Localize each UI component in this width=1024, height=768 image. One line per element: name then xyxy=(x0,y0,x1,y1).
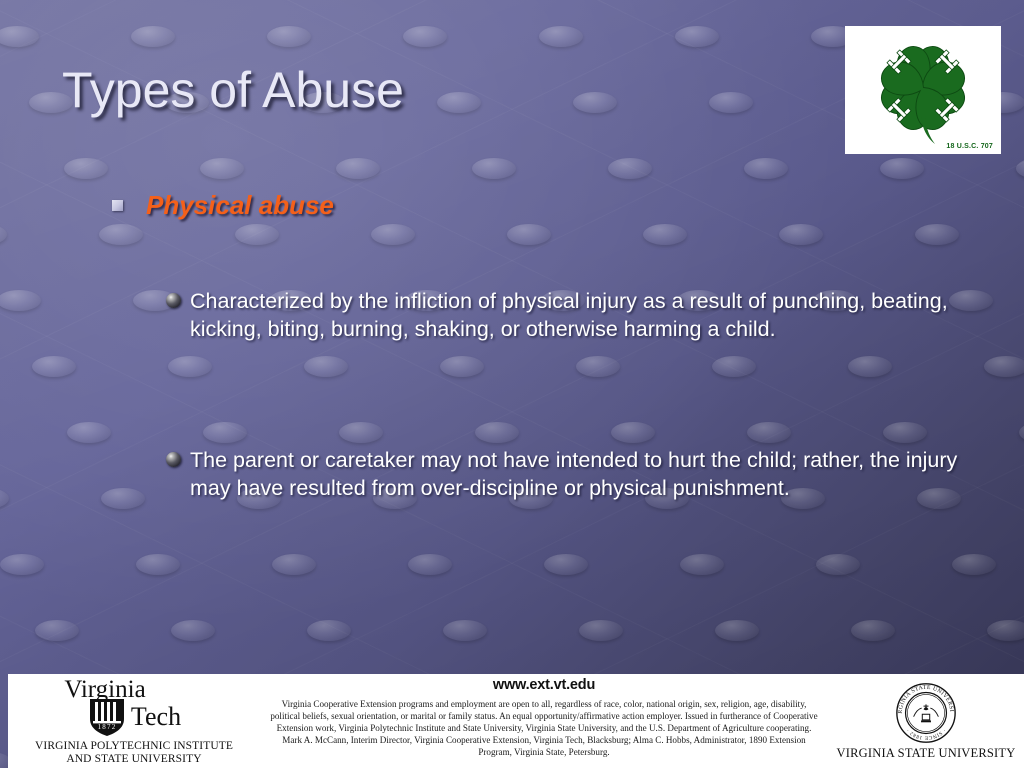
level2-bullet-item: Characterized by the infliction of physi… xyxy=(166,287,976,344)
vt-shield-row: 1872 Tech xyxy=(87,697,181,737)
background-node xyxy=(440,356,484,377)
background-node xyxy=(507,224,551,245)
background-node xyxy=(304,356,348,377)
background-node xyxy=(339,422,383,443)
slide-canvas: Types of Abuse Physical abuse Characteri… xyxy=(0,0,1024,768)
vt-full-name: VIRGINIA POLYTECHNIC INSTITUTE AND STATE… xyxy=(35,740,233,766)
vt-word-tech: Tech xyxy=(131,704,181,730)
level2-paragraph-text: The parent or caretaker may not have int… xyxy=(190,446,976,503)
svg-text:1872: 1872 xyxy=(98,723,117,731)
background-node xyxy=(168,356,212,377)
background-node xyxy=(67,422,111,443)
background-node xyxy=(35,620,79,641)
vt-name-line2: AND STATE UNIVERSITY xyxy=(35,753,233,766)
background-node xyxy=(136,554,180,575)
background-node xyxy=(472,158,516,179)
sphere-bullet-icon xyxy=(166,452,181,467)
background-node xyxy=(848,356,892,377)
background-node xyxy=(779,224,823,245)
background-node xyxy=(307,620,351,641)
background-node xyxy=(0,26,39,47)
square-bullet-icon xyxy=(112,200,123,211)
virginia-state-university-logo: VIRGINIA STATE UNIVERSITY · SINCE 1882 ·… xyxy=(828,674,1024,768)
background-node xyxy=(744,158,788,179)
background-node xyxy=(1016,158,1024,179)
extension-url[interactable]: www.ext.vt.edu xyxy=(493,677,595,693)
slide-title: Types of Abuse xyxy=(62,63,404,117)
background-node xyxy=(99,224,143,245)
background-node xyxy=(1019,422,1024,443)
four-h-clover-logo: 18 U.S.C. 707 xyxy=(845,26,1001,154)
background-node xyxy=(171,620,215,641)
clover-legal-code: 18 U.S.C. 707 xyxy=(946,143,993,150)
background-node xyxy=(611,422,655,443)
sphere-bullet-icon xyxy=(166,293,181,308)
background-node xyxy=(200,158,244,179)
background-node xyxy=(680,554,724,575)
background-node xyxy=(984,356,1024,377)
background-node xyxy=(203,422,247,443)
background-node xyxy=(608,158,652,179)
background-node xyxy=(131,26,175,47)
background-node xyxy=(443,620,487,641)
background-node xyxy=(715,620,759,641)
disclaimer-text: Virginia Cooperative Extension programs … xyxy=(266,698,822,758)
level1-bullet-label: Physical abuse xyxy=(146,190,334,221)
background-node xyxy=(408,554,452,575)
background-node xyxy=(0,224,7,245)
slide-footer: Virginia 1872 Tech VIRGINIA POLYTECHNIC xyxy=(8,674,1024,768)
background-node xyxy=(475,422,519,443)
virginia-tech-logo: Virginia 1872 Tech VIRGINIA POLYTECHNIC xyxy=(8,674,260,768)
background-node xyxy=(579,620,623,641)
background-node xyxy=(987,620,1024,641)
background-node xyxy=(272,554,316,575)
background-node xyxy=(0,554,44,575)
background-node xyxy=(675,26,719,47)
background-node xyxy=(539,26,583,47)
background-node xyxy=(747,422,791,443)
background-node xyxy=(712,356,756,377)
four-h-clover-icon xyxy=(845,26,1001,154)
background-node xyxy=(816,554,860,575)
background-node xyxy=(371,224,415,245)
background-node xyxy=(573,92,617,113)
background-node xyxy=(915,224,959,245)
background-node xyxy=(576,356,620,377)
background-node xyxy=(880,158,924,179)
background-node xyxy=(267,26,311,47)
background-node xyxy=(544,554,588,575)
background-node xyxy=(64,158,108,179)
disclaimer-block: www.ext.vt.edu Virginia Cooperative Exte… xyxy=(260,674,828,768)
background-node xyxy=(851,620,895,641)
background-node xyxy=(437,92,481,113)
vt-shield-icon: 1872 xyxy=(87,697,127,737)
background-node xyxy=(952,554,996,575)
background-node xyxy=(32,356,76,377)
background-node xyxy=(403,26,447,47)
background-node xyxy=(0,488,9,509)
background-node xyxy=(336,158,380,179)
level1-bullet-item: Physical abuse xyxy=(112,190,334,221)
background-node xyxy=(0,290,41,311)
background-node xyxy=(883,422,927,443)
vt-name-line1: VIRGINIA POLYTECHNIC INSTITUTE xyxy=(35,740,233,753)
background-node xyxy=(709,92,753,113)
background-node xyxy=(643,224,687,245)
virginia-state-university-seal-icon: VIRGINIA STATE UNIVERSITY · SINCE 1882 · xyxy=(895,682,957,744)
background-node xyxy=(235,224,279,245)
level2-paragraph-text: Characterized by the infliction of physi… xyxy=(190,287,976,344)
background-node xyxy=(101,488,145,509)
vsu-name-label: VIRGINIA STATE UNIVERSITY xyxy=(837,746,1016,761)
level2-bullet-item: The parent or caretaker may not have int… xyxy=(166,446,976,503)
